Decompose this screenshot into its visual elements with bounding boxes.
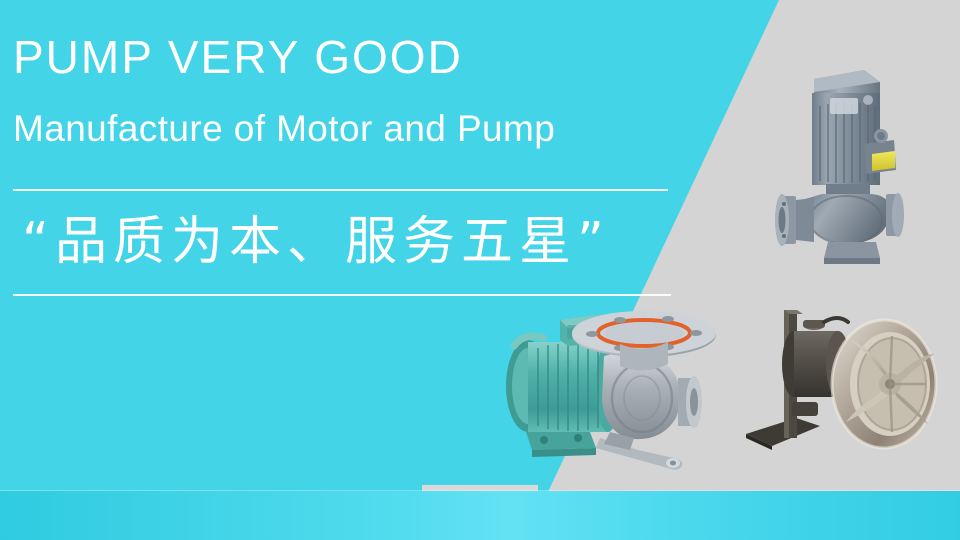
submersible-mixer-icon bbox=[742, 292, 944, 472]
product-image-vertical-inline-pump bbox=[768, 48, 950, 270]
page-title-headline: PUMP VERY GOOD bbox=[13, 28, 463, 86]
promo-banner: PUMP VERY GOOD Manufacture of Motor and … bbox=[0, 0, 960, 540]
bottom-accent-band bbox=[0, 491, 960, 540]
page-subtitle: Manufacture of Motor and Pump bbox=[13, 105, 555, 153]
product-image-submersible-mixer bbox=[742, 292, 944, 472]
centrifugal-pump-icon bbox=[492, 300, 736, 472]
inline-pump-icon bbox=[768, 48, 950, 270]
product-image-horizontal-centrifugal-pump bbox=[492, 300, 736, 472]
divider-bottom bbox=[13, 294, 671, 296]
divider-top bbox=[13, 189, 668, 191]
company-slogan: “品质为本、服务五星” bbox=[22, 202, 610, 282]
